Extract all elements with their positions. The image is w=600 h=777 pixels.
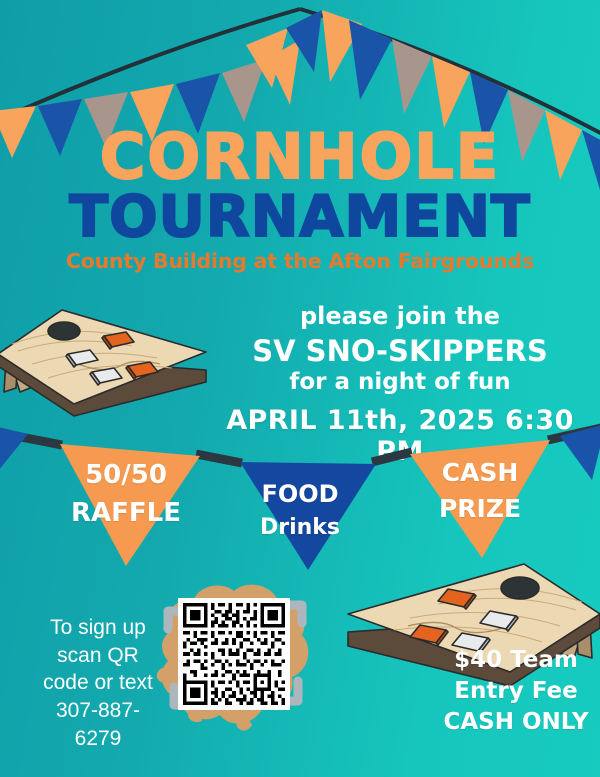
qr-code[interactable] — [178, 598, 290, 710]
entry-fee-text: $40 Team Entry Fee CASH ONLY — [436, 645, 596, 738]
detail-join: please join the — [205, 303, 595, 331]
fee-line-3: CASH ONLY — [436, 707, 596, 738]
pennant-edge-left — [0, 424, 28, 476]
qr-code-matrix — [183, 603, 285, 705]
pennant-cash-line2: PRIZE — [412, 491, 548, 527]
pennant-label-food: FOOD Drinks — [240, 477, 360, 544]
pennant-cash-line1: CASH — [412, 455, 548, 491]
pennant-food-line1: FOOD — [240, 477, 360, 512]
pennant-food-line2: Drinks — [240, 512, 360, 544]
title-block: CORNHOLE TOURNAMENT County Building at t… — [0, 128, 600, 273]
pennant-label-raffle: 50/50 RAFFLE — [58, 457, 194, 532]
fee-line-1: $40 Team — [436, 645, 596, 676]
title-line-cornhole: CORNHOLE — [0, 128, 600, 187]
detail-tagline: for a night of fun — [205, 369, 595, 395]
venue-line: County Building at the Afton Fairgrounds — [0, 249, 600, 273]
pennant-label-cash: CASH PRIZE — [412, 455, 548, 528]
pennant-raffle-line2: RAFFLE — [58, 495, 194, 533]
title-line-tournament: TOURNAMENT — [0, 189, 600, 246]
pennant-raffle-line1: 50/50 — [58, 457, 194, 495]
qr-section — [150, 575, 320, 745]
detail-org: SV SNO-SKIPPERS — [205, 334, 595, 369]
fee-line-2: Entry Fee — [436, 676, 596, 707]
flyer-canvas: CORNHOLE TOURNAMENT County Building at t… — [0, 0, 600, 777]
